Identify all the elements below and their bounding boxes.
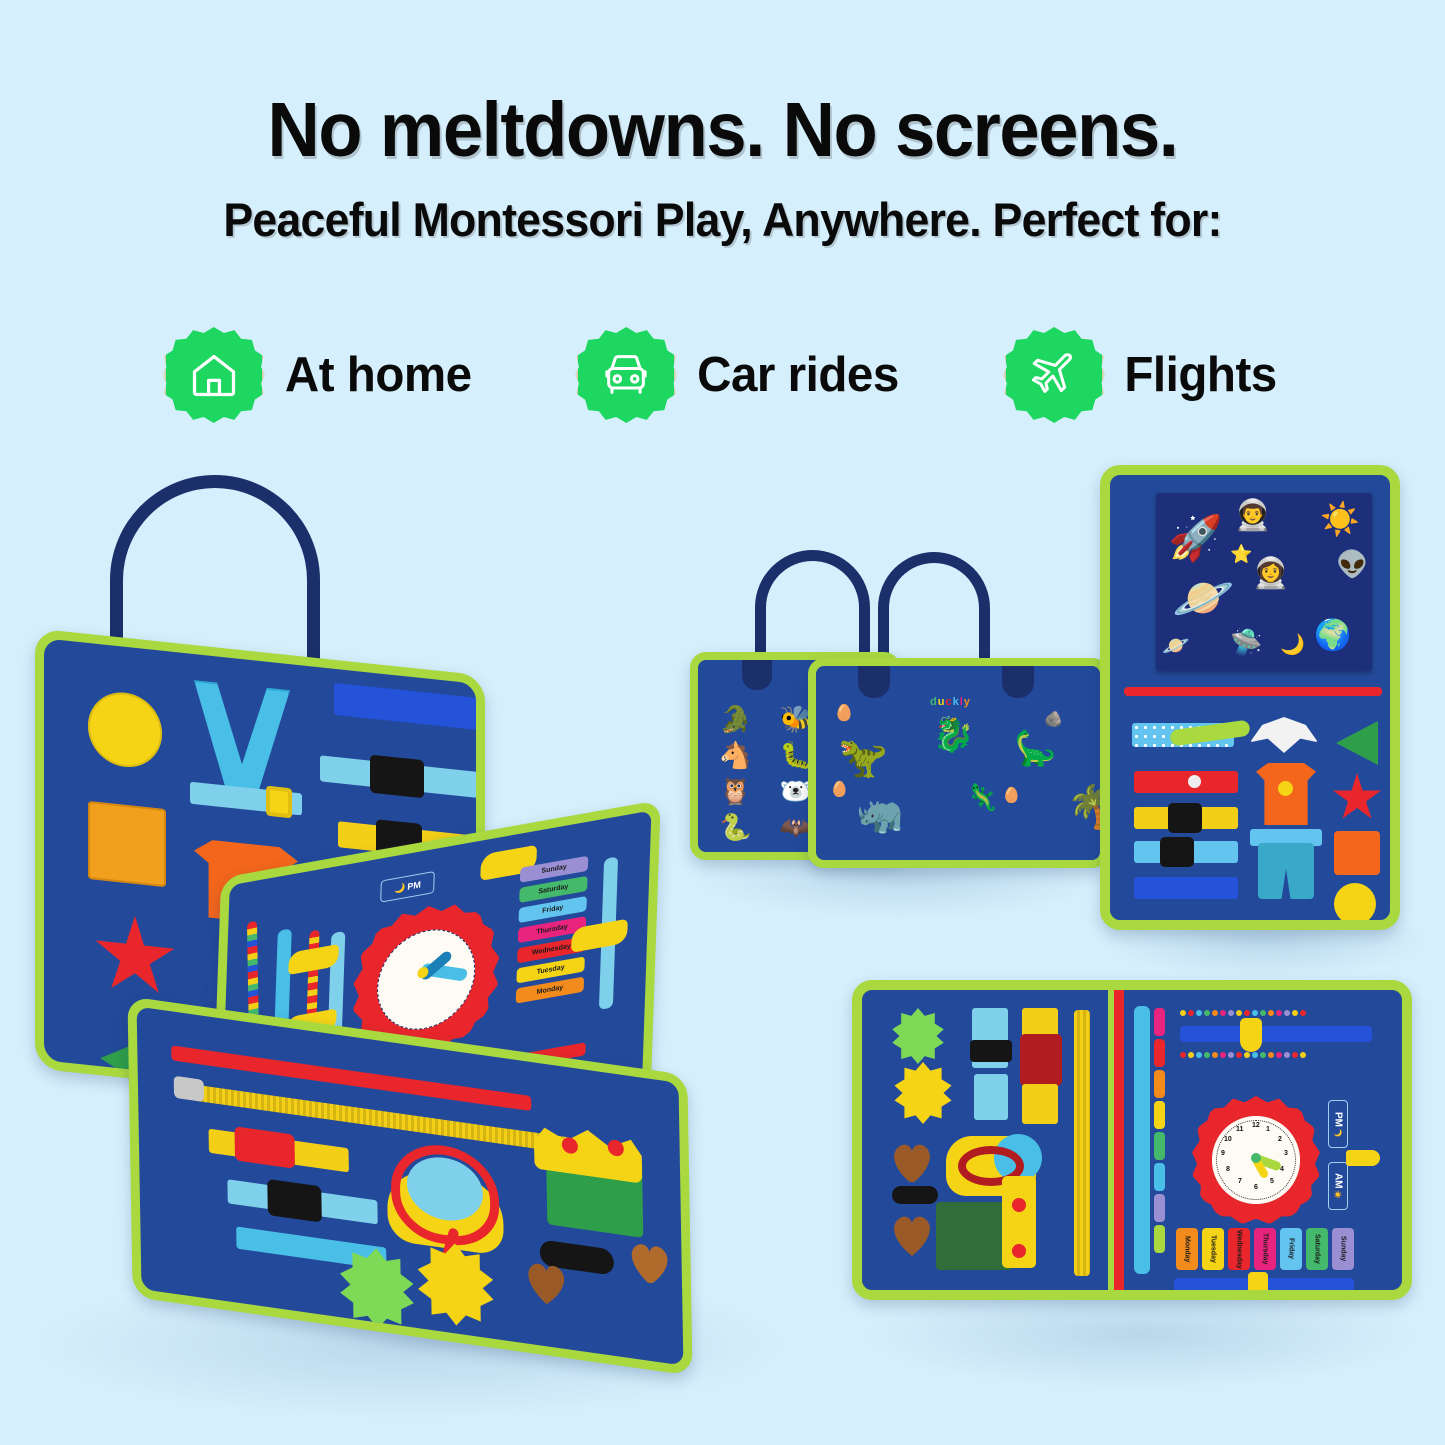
buckle-red — [1020, 1034, 1062, 1086]
zipper-red-hinge — [1124, 687, 1382, 696]
brand-mark: duckly — [930, 696, 971, 708]
pants-blue — [1258, 843, 1314, 899]
egg-icon: 🥚 — [1002, 788, 1021, 803]
promo-image: No meltdowns. No screens. Peaceful Monte… — [0, 0, 1445, 1445]
shape-star-red — [94, 912, 176, 1003]
astronaut-boy-icon: 👨‍🚀 — [1234, 501, 1271, 531]
gear-flower-yellow — [892, 1062, 954, 1124]
dinosaur-stegosaurus-icon: 🦕 — [1014, 732, 1056, 766]
weekday-strip-group: Monday Tuesday Wednesday Thursday Friday… — [1176, 1228, 1354, 1270]
space-dressing-board: 🚀 👨‍🚀 ☀️ 👽 👩‍🚀 🪐 ⭐ 🪐 🛸 🌙 🌍 — [1100, 465, 1400, 930]
car-icon — [600, 349, 652, 401]
hat-white — [1250, 717, 1318, 753]
am-text: AM — [1333, 1173, 1344, 1189]
carry-handle — [755, 550, 870, 665]
ampm-pointer-yellow — [1346, 1150, 1380, 1166]
badge-disc-car-rides — [578, 327, 674, 423]
zipper-yellow — [1074, 1010, 1090, 1276]
strap-yellow — [1022, 1084, 1058, 1124]
home-icon — [188, 349, 240, 401]
egg-spotted-icon: 🥚 — [830, 782, 849, 797]
bead-row-bottom — [1180, 1052, 1306, 1058]
alien-icon: 👽 — [1336, 551, 1368, 577]
slider-pointer-yellow — [1240, 1018, 1262, 1052]
airplane-icon — [1028, 349, 1080, 401]
time-label-pm: PM 🌙 — [1328, 1100, 1348, 1148]
page-subtitle: Peaceful Montessori Play, Anywhere. Perf… — [36, 196, 1409, 243]
snap-button-silver — [1188, 775, 1201, 788]
handle-tab — [858, 662, 890, 698]
shape-square-orange — [88, 801, 166, 887]
badge-label-flights: Flights — [1125, 347, 1277, 403]
velcro-strip-blue — [334, 683, 484, 731]
day-strip-friday: Friday — [1280, 1228, 1302, 1270]
sun-icon: ☀️ — [1334, 1191, 1343, 1199]
letter-u-snake-icon: 🐍 — [712, 814, 759, 840]
use-case-badge-row: At home Car rides — [0, 327, 1445, 423]
shape-square-orange — [1334, 831, 1380, 875]
badge-flights: Flights — [1006, 327, 1279, 423]
month-strip-group — [1154, 1008, 1165, 1253]
button-red — [1012, 1244, 1026, 1258]
dragon-icon: 🐉 — [932, 718, 974, 752]
shape-circle-yellow — [88, 689, 162, 771]
day-strip-wednesday: Wednesday — [1228, 1228, 1250, 1270]
bag-dinosaur: duckly 🦖 🐉 🦕 🦏 🦎 🌴 🥚 🥚 🥚 🪨 — [808, 658, 1108, 868]
badge-car-rides: Car rides — [578, 327, 902, 423]
handle-tab — [1002, 662, 1034, 698]
heart-brown — [888, 1212, 934, 1256]
rocket-icon: 🚀 — [1168, 517, 1223, 561]
zipper-pull-silver — [174, 1076, 204, 1102]
shape-triangle-green — [1336, 721, 1378, 765]
bead-row-top — [1180, 1010, 1306, 1016]
belt-red — [1134, 771, 1238, 793]
ufo-icon: 🛸 — [1230, 629, 1262, 655]
planet-mars-icon: 🪐 — [1172, 573, 1234, 623]
shape-circle-yellow — [1334, 883, 1376, 925]
month-slider-track — [1134, 1006, 1150, 1274]
time-label-am: AM ☀️ — [1328, 1162, 1348, 1210]
buckle-black — [970, 1040, 1012, 1062]
dinosaur-baby-icon: 🦎 — [966, 784, 998, 810]
pocket-green — [936, 1202, 1012, 1270]
handle-tab — [742, 656, 772, 690]
earth-icon: 🌍 — [1314, 621, 1351, 651]
letter-a-alligator-icon: 🐊 — [712, 706, 759, 732]
heart-brown — [625, 1237, 670, 1285]
shape-star-red — [1332, 773, 1382, 823]
letter-h-horse-icon: 🐴 — [712, 742, 759, 768]
slider-pointer-yellow — [1248, 1272, 1268, 1300]
slider-track-blue — [1180, 1026, 1372, 1042]
space-puzzle-panel: 🚀 👨‍🚀 ☀️ 👽 👩‍🚀 🪐 ⭐ 🪐 🛸 🌙 🌍 — [1156, 493, 1372, 671]
rock-icon: 🪨 — [1044, 712, 1063, 727]
day-strip-thursday: Thursday — [1254, 1228, 1276, 1270]
moon-icon: 🌙 — [1280, 635, 1305, 655]
velcro-strip-blue — [1134, 877, 1238, 899]
buckle-black — [267, 1179, 322, 1223]
button-red — [1012, 1198, 1026, 1212]
day-strip-tuesday: Tuesday — [1202, 1228, 1224, 1270]
badge-label-car-rides: Car rides — [697, 347, 899, 403]
moon-icon: 🌙 — [394, 882, 406, 895]
day-strip-saturday: Saturday — [1306, 1228, 1328, 1270]
day-strip-monday: Monday — [1176, 1228, 1198, 1270]
spine-zipper-red — [1114, 990, 1124, 1290]
letter-o-owl-icon: 🦉 — [712, 778, 759, 804]
pm-text: PM — [1333, 1112, 1344, 1127]
astronaut-girl-icon: 👩‍🚀 — [1252, 559, 1289, 589]
planet-saturn-icon: 🪐 — [1162, 635, 1189, 657]
buckle-black — [1168, 803, 1202, 833]
star-icon: ⭐ — [1230, 545, 1252, 563]
buckle-red — [234, 1126, 295, 1169]
gear-flower-green — [890, 1008, 946, 1064]
clock-face: 12 1 2 3 4 5 6 7 8 9 10 11 — [1212, 1116, 1300, 1204]
dinosaur-trex-icon: 🦖 — [838, 738, 888, 778]
product-photo-stage: 🌙 PM Sunday — [0, 440, 1445, 1445]
badge-disc-at-home — [166, 327, 262, 423]
moon-icon: 🌙 — [1334, 1129, 1343, 1137]
time-label-pm: 🌙 PM — [380, 871, 435, 903]
badge-label-at-home: At home — [285, 347, 472, 403]
badge-at-home: At home — [166, 327, 475, 423]
page-title: No meltdowns. No screens. — [43, 92, 1401, 169]
buckle-yellow — [266, 786, 292, 819]
buckle-black — [1160, 837, 1194, 867]
day-strip-sunday: Sunday — [1332, 1228, 1354, 1270]
carry-handle — [878, 552, 990, 664]
sun-icon: ☀️ — [1320, 503, 1360, 535]
button-yellow — [1278, 781, 1293, 796]
toggle-button-black — [892, 1186, 938, 1204]
strap-lightblue — [974, 1074, 1008, 1120]
egg-icon: 🥚 — [834, 706, 854, 722]
buckle-black — [370, 755, 424, 799]
heart-brown — [888, 1140, 932, 1182]
dinosaur-triceratops-icon: 🦏 — [856, 796, 903, 834]
letter-v-applique — [194, 680, 290, 800]
badge-disc-flights — [1006, 327, 1102, 423]
clock-calendar-board: 12 1 2 3 4 5 6 7 8 9 10 11 — [852, 980, 1412, 1300]
